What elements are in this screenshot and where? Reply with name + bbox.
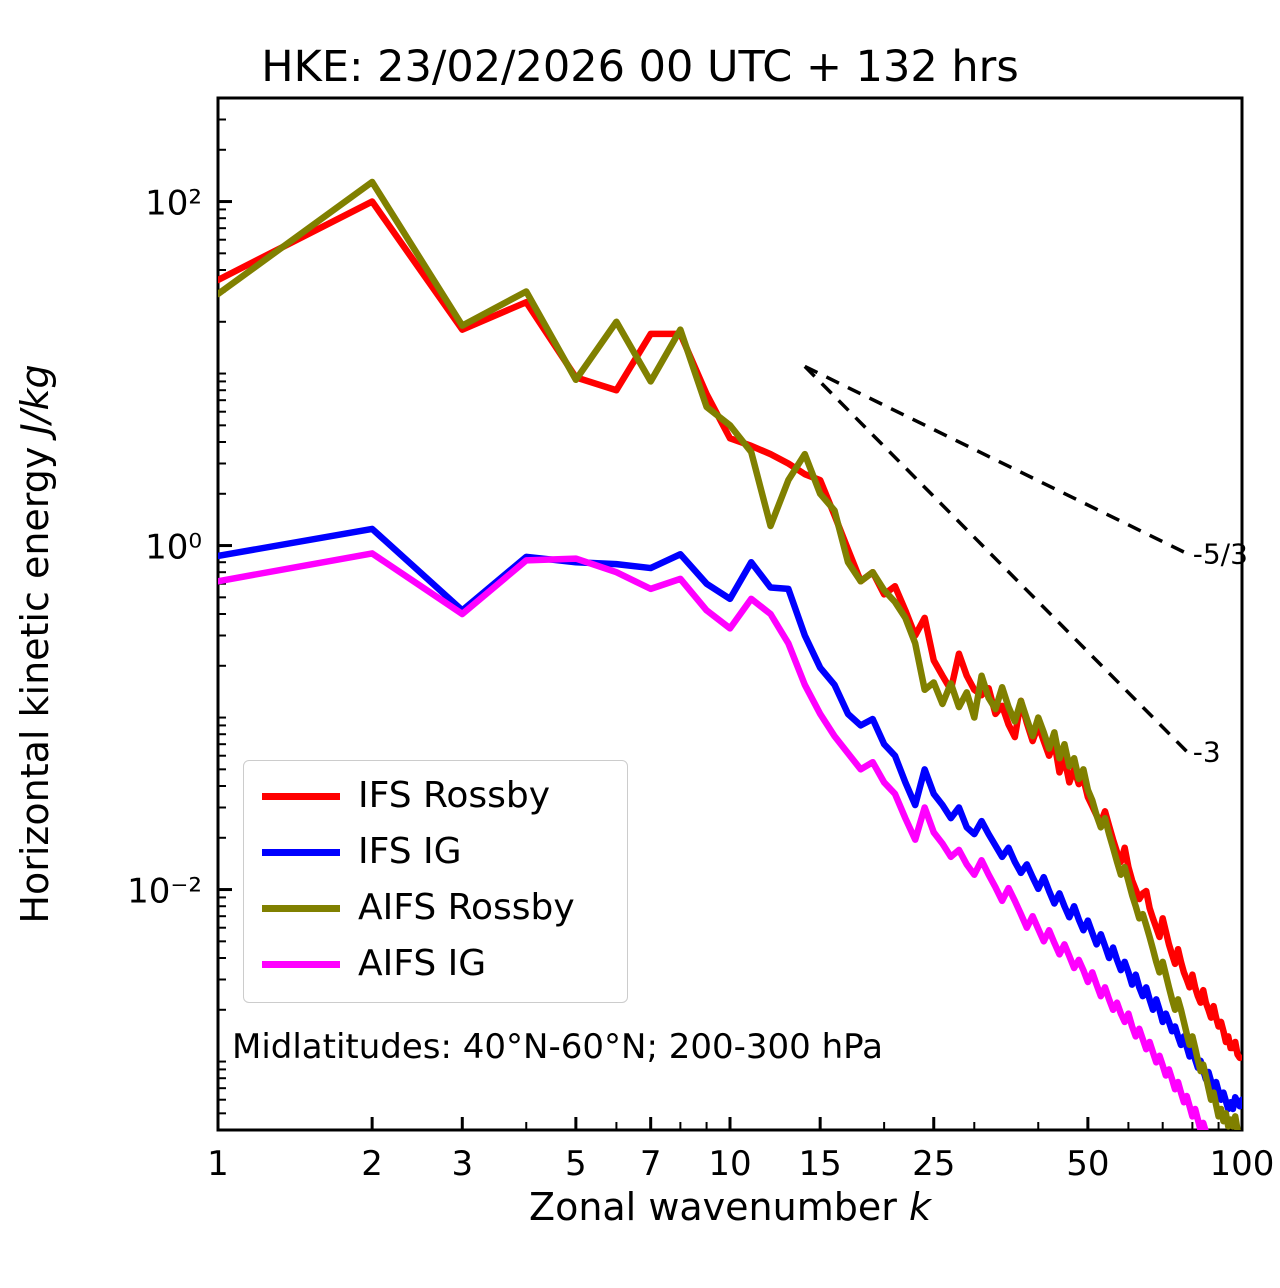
x-tick-label: 50 bbox=[1066, 1144, 1109, 1184]
legend-item[interactable]: IFS Rossby bbox=[262, 771, 550, 821]
legend: IFS RossbyIFS IGAIFS RossbyAIFS IG bbox=[243, 760, 628, 1003]
annotation-text: Midlatitudes: 40°N-60°N; 200-300 hPa bbox=[232, 1027, 883, 1067]
legend-item-label: IFS IG bbox=[358, 834, 462, 870]
x-tick-label: 3 bbox=[451, 1144, 473, 1184]
slope-label: -3 bbox=[1193, 735, 1221, 768]
y-axis-ticks: 10²10⁰10⁻² bbox=[127, 98, 232, 1130]
slope-label: -5/3 bbox=[1193, 537, 1248, 570]
legend-color-swatch bbox=[262, 905, 340, 912]
figure-container: HKE: 23/02/2026 00 UTC + 132 hrs Horizon… bbox=[0, 0, 1280, 1288]
legend-item[interactable]: AIFS Rossby bbox=[262, 883, 575, 933]
region-annotation: Midlatitudes: 40°N-60°N; 200-300 hPa bbox=[232, 1027, 883, 1067]
legend-item[interactable]: AIFS IG bbox=[262, 939, 486, 989]
legend-item[interactable]: IFS IG bbox=[262, 827, 462, 877]
x-tick-label: 1 bbox=[207, 1144, 229, 1184]
legend-color-swatch bbox=[262, 793, 340, 800]
legend-item-label: AIFS IG bbox=[358, 946, 486, 982]
legend-item-label: IFS Rossby bbox=[358, 778, 550, 814]
legend-item-label: AIFS Rossby bbox=[358, 890, 575, 926]
x-tick-label: 2 bbox=[361, 1144, 383, 1184]
x-axis-ticks: 1235710152550100 bbox=[207, 1117, 1274, 1184]
x-tick-label: 10 bbox=[708, 1144, 751, 1184]
legend-color-swatch bbox=[262, 961, 340, 968]
x-tick-label: 15 bbox=[799, 1144, 842, 1184]
legend-color-swatch bbox=[262, 849, 340, 856]
y-tick-label: 10² bbox=[145, 184, 202, 224]
y-tick-label: 10⁻² bbox=[127, 872, 202, 912]
chart-plot: 1235710152550100 10²10⁰10⁻² -5/3-3 Midla… bbox=[0, 0, 1280, 1288]
y-tick-label: 10⁰ bbox=[145, 528, 202, 568]
x-tick-label: 25 bbox=[912, 1144, 955, 1184]
x-tick-label: 7 bbox=[640, 1144, 662, 1184]
data-series-group bbox=[218, 182, 1242, 1154]
x-tick-label: 100 bbox=[1210, 1144, 1275, 1184]
x-tick-label: 5 bbox=[565, 1144, 587, 1184]
